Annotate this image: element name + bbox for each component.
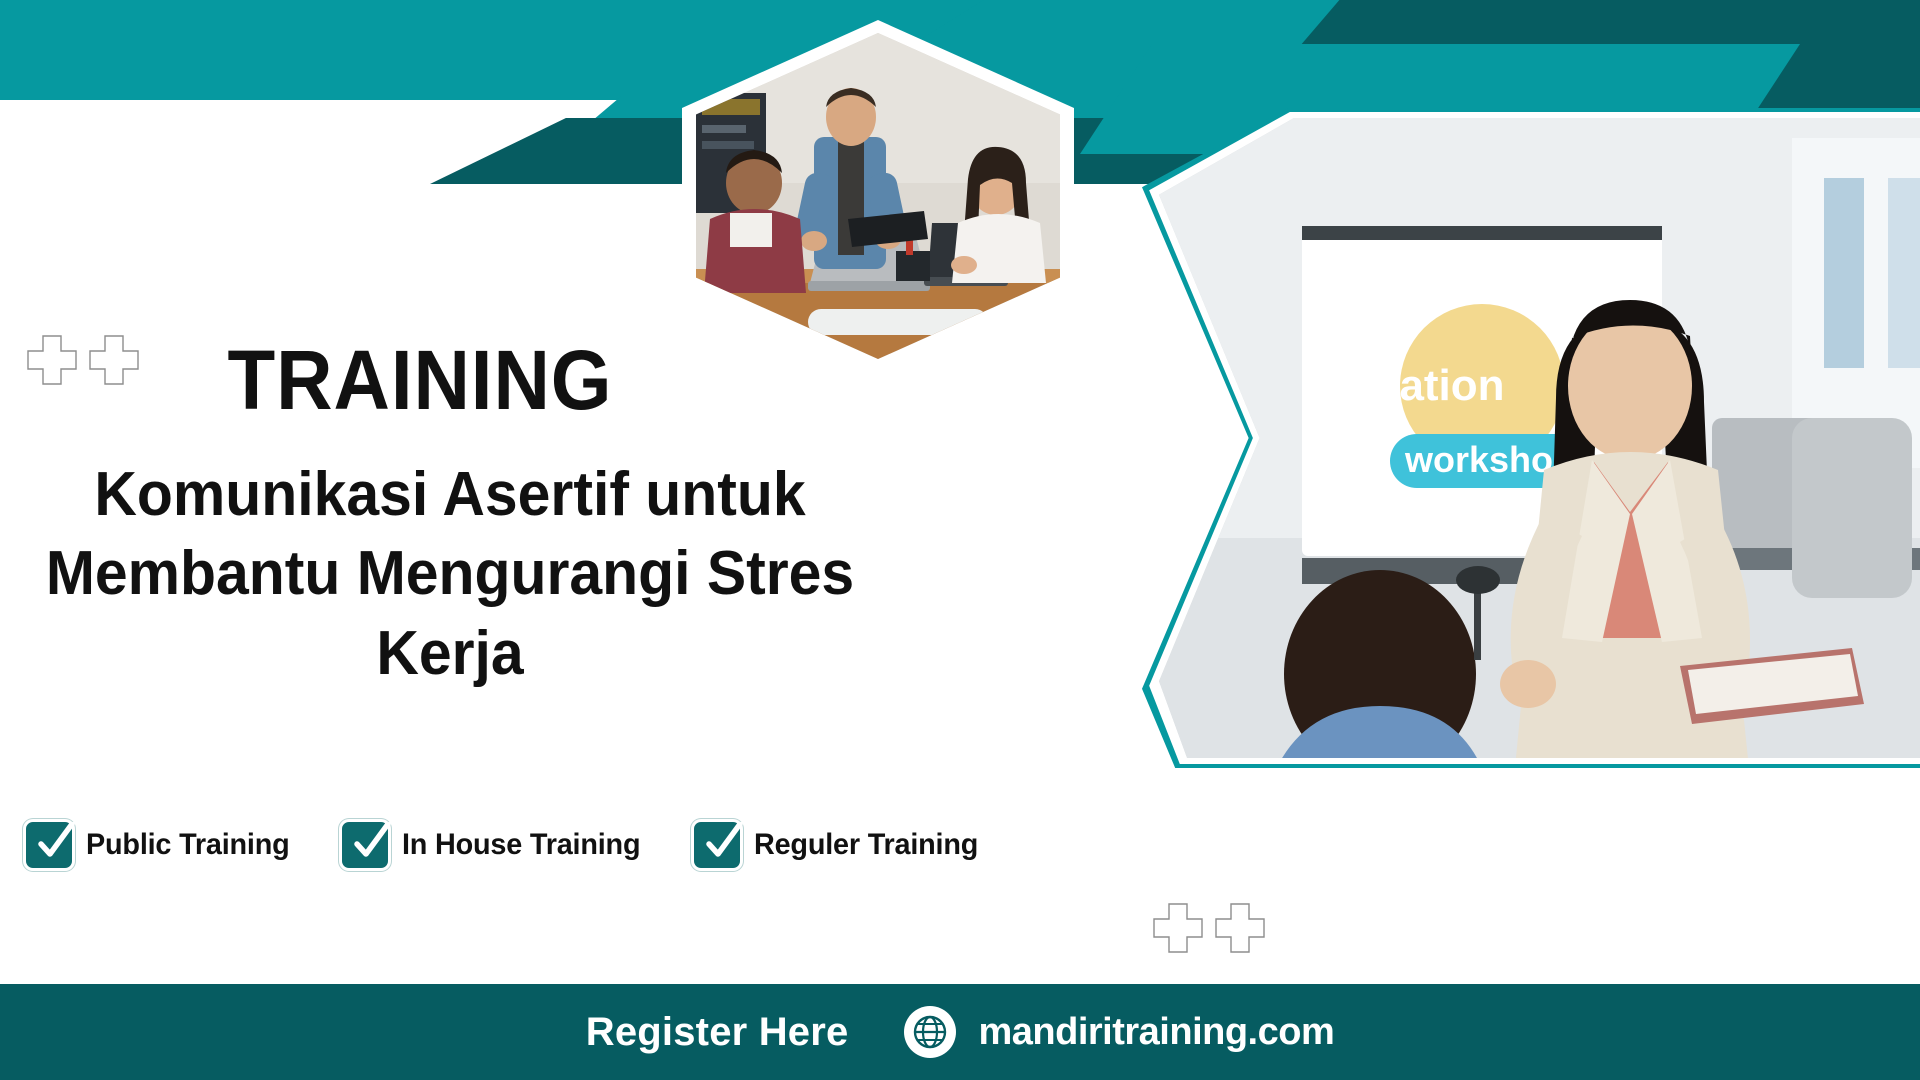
- option-label: Public Training: [86, 828, 290, 862]
- svg-text:ation: ation: [1399, 361, 1504, 410]
- checkbox-checked-icon[interactable]: [694, 822, 740, 868]
- globe-glyph: [912, 1014, 948, 1050]
- checkbox-checked-icon[interactable]: [26, 822, 72, 868]
- register-here-label[interactable]: Register Here: [586, 1010, 849, 1055]
- cross-outline-icon: [1152, 902, 1204, 954]
- hero-photo-image: ation workshop: [1152, 118, 1920, 758]
- website-url[interactable]: mandiritraining.com: [978, 1011, 1334, 1054]
- cross-decoration-bottom-right: [1152, 902, 1266, 954]
- option-reguler-training[interactable]: Reguler Training: [694, 822, 988, 868]
- workshop-photo-illustration: ation workshop: [1152, 118, 1920, 758]
- footer-bar: Register Here mandiritraining.com: [0, 984, 1920, 1080]
- option-public-training[interactable]: Public Training: [26, 822, 298, 868]
- training-options-list: Public Training In House Training Regule…: [26, 822, 988, 868]
- page-subtitle: Komunikasi Asertif untuk Membantu Mengur…: [32, 455, 868, 693]
- page-title: TRAINING: [29, 338, 810, 422]
- cross-outline-icon: [1214, 902, 1266, 954]
- hexagon-photo: [682, 20, 1074, 372]
- checkmark-icon: [348, 822, 392, 866]
- checkmark-icon: [700, 822, 744, 866]
- training-poster: ation workshop: [0, 0, 1920, 1080]
- option-in-house-training[interactable]: In House Training: [342, 822, 650, 868]
- globe-icon: [904, 1006, 956, 1058]
- option-label: Reguler Training: [754, 828, 978, 862]
- website-link[interactable]: mandiritraining.com: [904, 1006, 1334, 1058]
- checkbox-checked-icon[interactable]: [342, 822, 388, 868]
- hero-photo: ation workshop: [1142, 108, 1920, 768]
- option-label: In House Training: [402, 828, 640, 862]
- checkmark-icon: [32, 822, 76, 866]
